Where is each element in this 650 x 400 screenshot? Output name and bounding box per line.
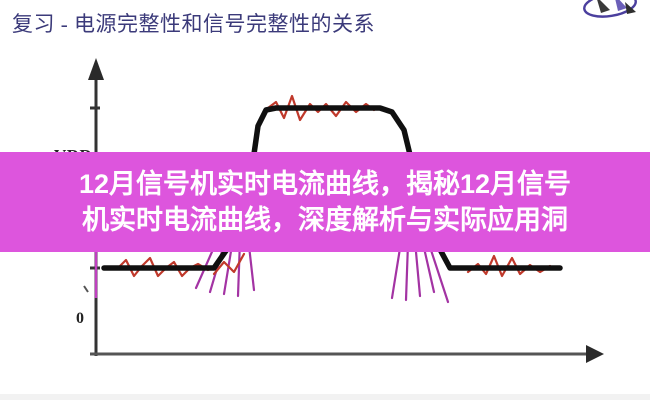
x-axis-arrow-icon: [586, 345, 604, 363]
overlay-title-banner: 12月信号机实时电流曲线，揭秘12月信号 机实时电流曲线，深度解析与实际应用洞: [0, 152, 650, 252]
overlay-headline-line-2: 机实时电流曲线，深度解析与实际应用洞: [82, 203, 568, 237]
zero-secondary-tick: [84, 286, 88, 292]
axis-label-zero: 0: [76, 310, 84, 328]
brand-swoosh-logo: [570, 0, 646, 30]
page-bottom-divider: [0, 394, 650, 400]
y-axis-arrow-icon: [88, 58, 104, 80]
slide-page: 复习 - 电源完整性和信号完整性的关系: [0, 0, 650, 400]
overlay-headline-line-1: 12月信号机实时电流曲线，揭秘12月信号: [79, 167, 571, 201]
page-title: 复习 - 电源完整性和信号完整性的关系: [12, 8, 375, 38]
